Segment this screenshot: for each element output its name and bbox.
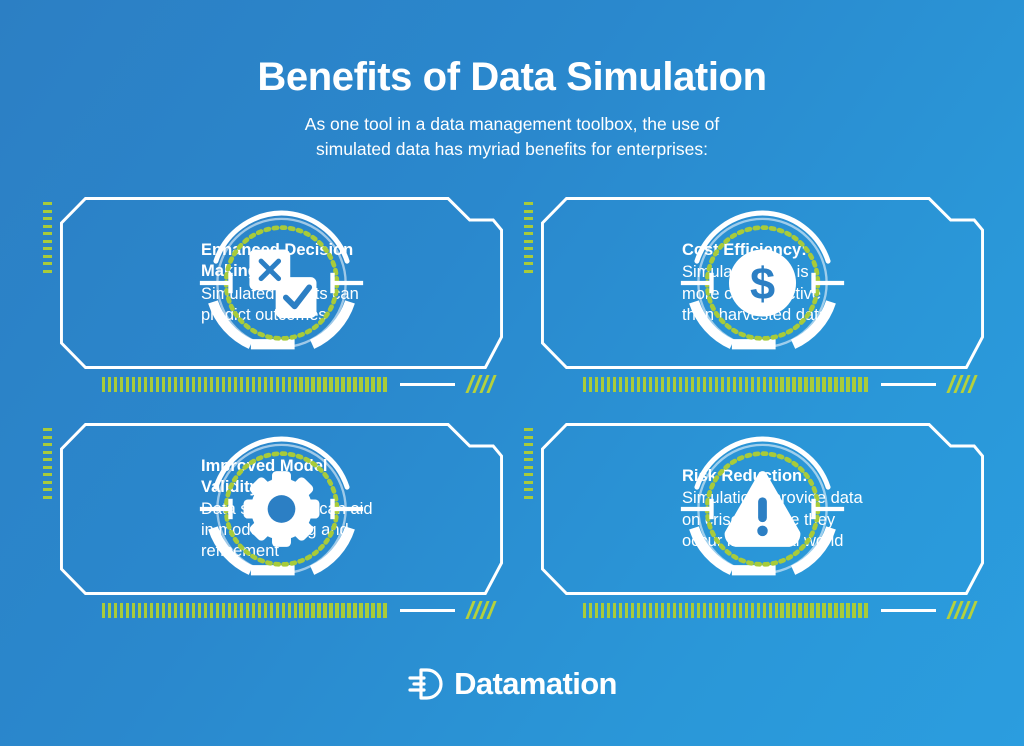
subtitle-line-2: simulated data has myriad benefits for e… bbox=[0, 137, 1024, 162]
footer-logo: Datamation bbox=[0, 666, 1024, 702]
green-bars-icon bbox=[583, 377, 868, 392]
card-frame-3: Improved Model Validity: Data simulation… bbox=[60, 423, 503, 595]
green-bars-icon bbox=[583, 603, 868, 618]
card-decoration-3 bbox=[102, 602, 493, 618]
card-frame-4: Risk Reduction: Simulations provide data… bbox=[541, 423, 984, 595]
green-slashes-icon bbox=[469, 375, 493, 393]
benefits-grid: Enhanced Decision Making: Simulated even… bbox=[0, 192, 1024, 640]
svg-text:$: $ bbox=[750, 258, 775, 309]
edge-dash-column-icon bbox=[43, 428, 52, 499]
green-slashes-icon bbox=[950, 375, 974, 393]
benefit-card-2: $ Cost Efficiency: Simulated data is mor… bbox=[521, 192, 984, 414]
white-rule-icon bbox=[400, 609, 455, 612]
checkbox-squares-icon bbox=[60, 197, 503, 369]
subtitle-line-1: As one tool in a data management toolbox… bbox=[0, 112, 1024, 137]
white-rule-icon bbox=[881, 383, 936, 386]
edge-dash-column-icon bbox=[43, 202, 52, 273]
warning-triangle-icon bbox=[541, 423, 984, 595]
card-frame-1: Enhanced Decision Making: Simulated even… bbox=[60, 197, 503, 369]
card-content-1: Enhanced Decision Making: Simulated even… bbox=[60, 197, 503, 369]
card-content-3: Improved Model Validity: Data simulation… bbox=[60, 423, 503, 595]
card-decoration-1 bbox=[102, 376, 493, 392]
card-decoration-2 bbox=[583, 376, 974, 392]
green-bars-icon bbox=[102, 377, 387, 392]
benefit-card-3: Improved Model Validity: Data simulation… bbox=[40, 418, 503, 640]
edge-dash-column-icon bbox=[524, 428, 533, 499]
gear-icon bbox=[60, 423, 503, 595]
page-title: Benefits of Data Simulation bbox=[0, 56, 1024, 98]
card-content-2: $ Cost Efficiency: Simulated data is mor… bbox=[541, 197, 984, 369]
benefit-card-4: Risk Reduction: Simulations provide data… bbox=[521, 418, 984, 640]
edge-dash-column-icon bbox=[524, 202, 533, 273]
card-decoration-4 bbox=[583, 602, 974, 618]
white-rule-icon bbox=[881, 609, 936, 612]
green-bars-icon bbox=[102, 603, 387, 618]
card-frame-2: $ Cost Efficiency: Simulated data is mor… bbox=[541, 197, 984, 369]
header: Benefits of Data Simulation As one tool … bbox=[0, 0, 1024, 163]
green-slashes-icon bbox=[950, 601, 974, 619]
card-content-4: Risk Reduction: Simulations provide data… bbox=[541, 423, 984, 595]
logo-wordmark: Datamation bbox=[454, 666, 617, 702]
green-slashes-icon bbox=[469, 601, 493, 619]
datamation-d-icon bbox=[407, 667, 447, 701]
dollar-coin-icon: $ bbox=[541, 197, 984, 369]
benefit-card-1: Enhanced Decision Making: Simulated even… bbox=[40, 192, 503, 414]
page-subtitle: As one tool in a data management toolbox… bbox=[0, 112, 1024, 163]
white-rule-icon bbox=[400, 383, 455, 386]
